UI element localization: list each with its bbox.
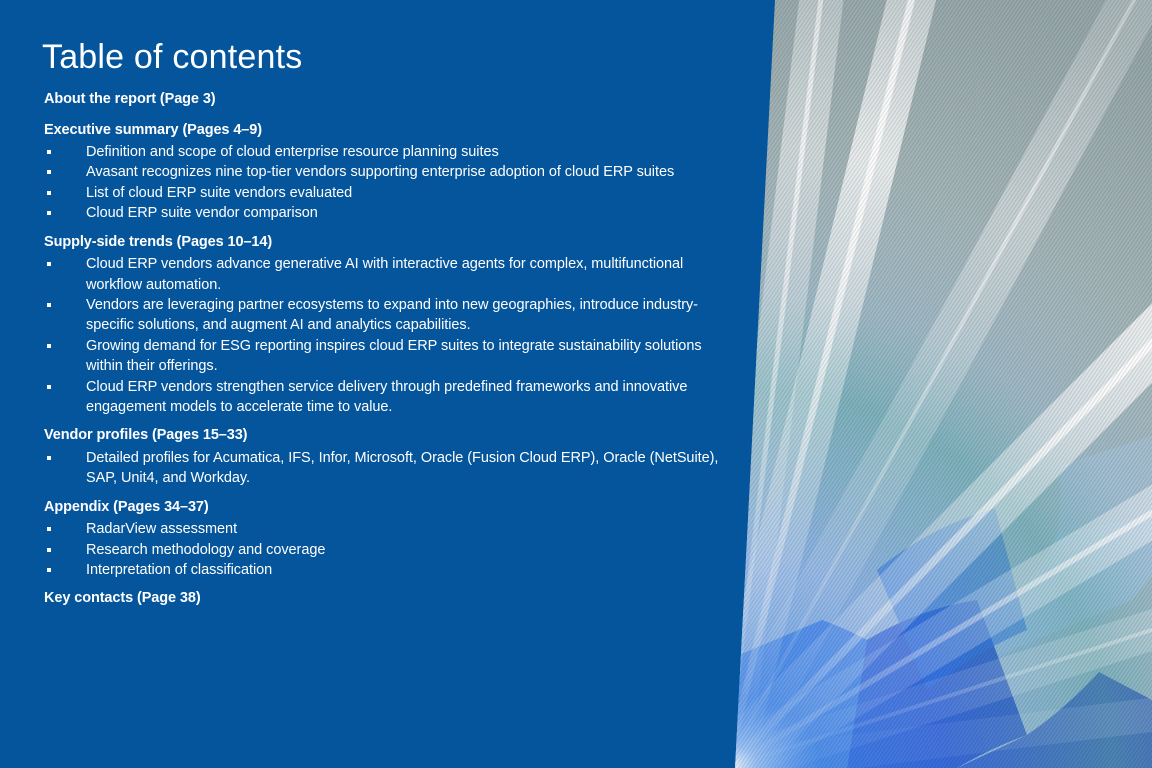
list-item: Research methodology and coverage [44, 540, 722, 560]
toc-section-vendor-profiles: Vendor profiles (Pages 15–33) Detailed p… [44, 417, 722, 488]
list-item-label: Vendors are leveraging partner ecosystem… [86, 297, 698, 333]
square-bullet-icon [47, 150, 51, 154]
section-heading[interactable]: Supply-side trends (Pages 10–14) [44, 224, 722, 255]
radial-fan-light-rays-graphic [727, 0, 1152, 768]
list-item-label: Interpretation of classification [86, 562, 272, 578]
list-item: RadarView assessment [44, 519, 722, 539]
toc-sections: About the report (Page 3) Executive summ… [44, 92, 722, 611]
list-item: Vendors are leveraging partner ecosystem… [44, 295, 722, 336]
list-item-label: Avasant recognizes nine top-tier vendors… [86, 164, 674, 180]
section-bullet-list: Detailed profiles for Acumatica, IFS, In… [44, 448, 722, 489]
square-bullet-icon [47, 303, 51, 307]
list-item-label: List of cloud ERP suite vendors evaluate… [86, 185, 352, 201]
square-bullet-icon [47, 211, 51, 215]
section-bullet-list: Cloud ERP vendors advance generative AI … [44, 254, 722, 417]
list-item: Growing demand for ESG reporting inspire… [44, 336, 722, 377]
list-item: Definition and scope of cloud enterprise… [44, 142, 722, 162]
list-item: Interpretation of classification [44, 560, 722, 580]
square-bullet-icon [47, 527, 51, 531]
list-item-label: Growing demand for ESG reporting inspire… [86, 338, 702, 374]
list-item-label: Cloud ERP vendors strengthen service del… [86, 379, 687, 415]
section-heading[interactable]: Appendix (Pages 34–37) [44, 489, 722, 520]
page-title: Table of contents [42, 38, 302, 77]
section-heading[interactable]: Vendor profiles (Pages 15–33) [44, 417, 722, 448]
section-heading[interactable]: Executive summary (Pages 4–9) [44, 112, 722, 143]
section-heading[interactable]: Key contacts (Page 38) [44, 580, 722, 611]
square-bullet-icon [47, 191, 51, 195]
section-bullet-list: Definition and scope of cloud enterprise… [44, 142, 722, 224]
list-item: Cloud ERP suite vendor comparison [44, 203, 722, 223]
list-item-label: Detailed profiles for Acumatica, IFS, In… [86, 450, 718, 486]
slide-root: Table of contents About the report (Page… [0, 0, 1152, 768]
toc-section-supply-side-trends: Supply-side trends (Pages 10–14) Cloud E… [44, 224, 722, 418]
toc-section-about-the-report: About the report (Page 3) [44, 92, 722, 112]
list-item-label: RadarView assessment [86, 521, 237, 537]
square-bullet-icon [47, 548, 51, 552]
list-item: Cloud ERP vendors advance generative AI … [44, 254, 722, 295]
square-bullet-icon [47, 568, 51, 572]
toc-section-appendix: Appendix (Pages 34–37) RadarView assessm… [44, 489, 722, 581]
graphic-hatch-texture [727, 0, 1152, 768]
list-item: Avasant recognizes nine top-tier vendors… [44, 162, 722, 182]
list-item-label: Research methodology and coverage [86, 542, 325, 558]
section-bullet-list: RadarView assessment Research methodolog… [44, 519, 722, 580]
list-item-label: Cloud ERP vendors advance generative AI … [86, 256, 683, 292]
toc-section-executive-summary: Executive summary (Pages 4–9) Definition… [44, 112, 722, 224]
section-heading[interactable]: About the report (Page 3) [44, 92, 722, 112]
square-bullet-icon [47, 385, 51, 389]
list-item: Cloud ERP vendors strengthen service del… [44, 377, 722, 418]
toc-section-key-contacts: Key contacts (Page 38) [44, 580, 722, 611]
list-item-label: Cloud ERP suite vendor comparison [86, 205, 318, 221]
list-item: Detailed profiles for Acumatica, IFS, In… [44, 448, 722, 489]
square-bullet-icon [47, 456, 51, 460]
radial-fan-svg [727, 0, 1152, 768]
content-column: Table of contents About the report (Page… [42, 0, 722, 768]
square-bullet-icon [47, 344, 51, 348]
list-item: List of cloud ERP suite vendors evaluate… [44, 183, 722, 203]
square-bullet-icon [47, 262, 51, 266]
square-bullet-icon [47, 170, 51, 174]
list-item-label: Definition and scope of cloud enterprise… [86, 144, 499, 160]
